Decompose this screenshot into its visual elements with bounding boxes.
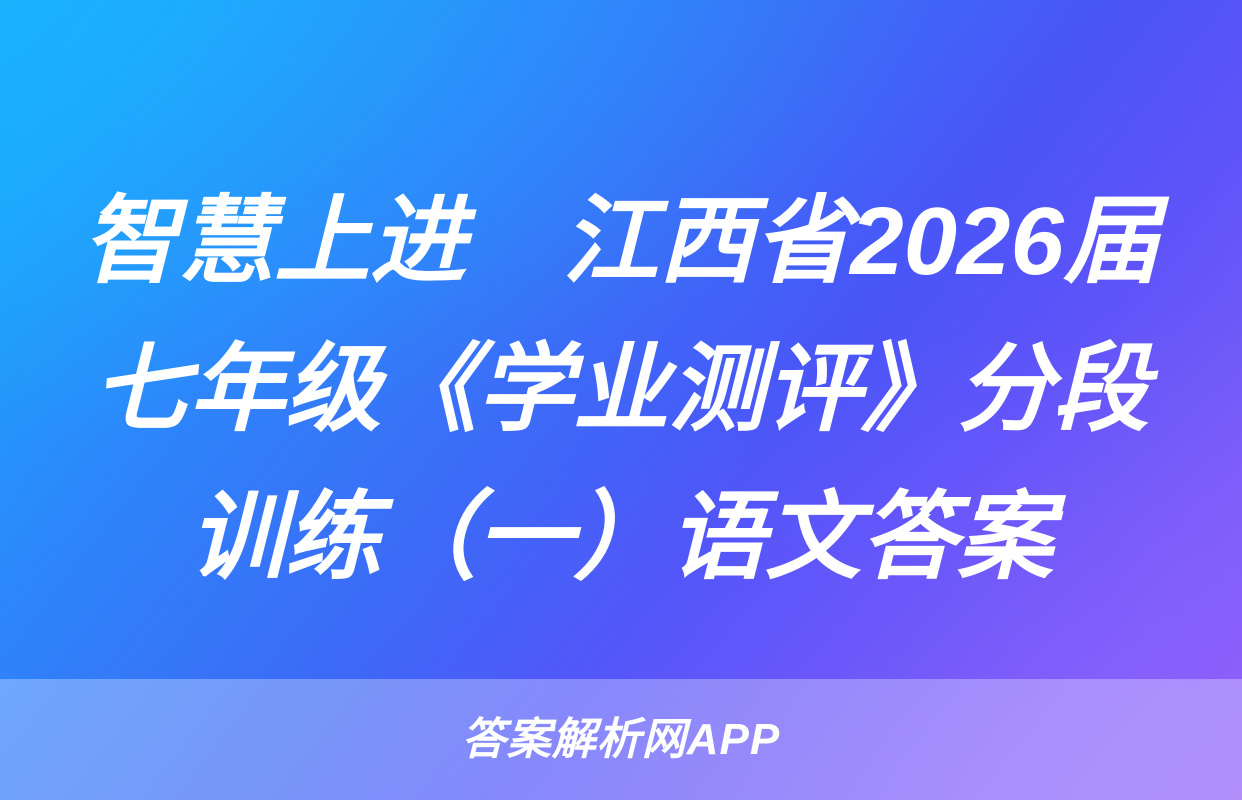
brand-name: 答案解析网APP: [462, 716, 780, 764]
page-title: 智慧上进 江西省2026届七年级《学业测评》分段训练（一）语文答案: [72, 168, 1170, 612]
poster-canvas: 智慧上进 江西省2026届七年级《学业测评》分段训练（一）语文答案 答案解析网A…: [0, 0, 1242, 800]
footer-watermark-band: 答案解析网APP: [0, 679, 1242, 800]
headline-container: 智慧上进 江西省2026届七年级《学业测评》分段训练（一）语文答案: [0, 168, 1242, 612]
